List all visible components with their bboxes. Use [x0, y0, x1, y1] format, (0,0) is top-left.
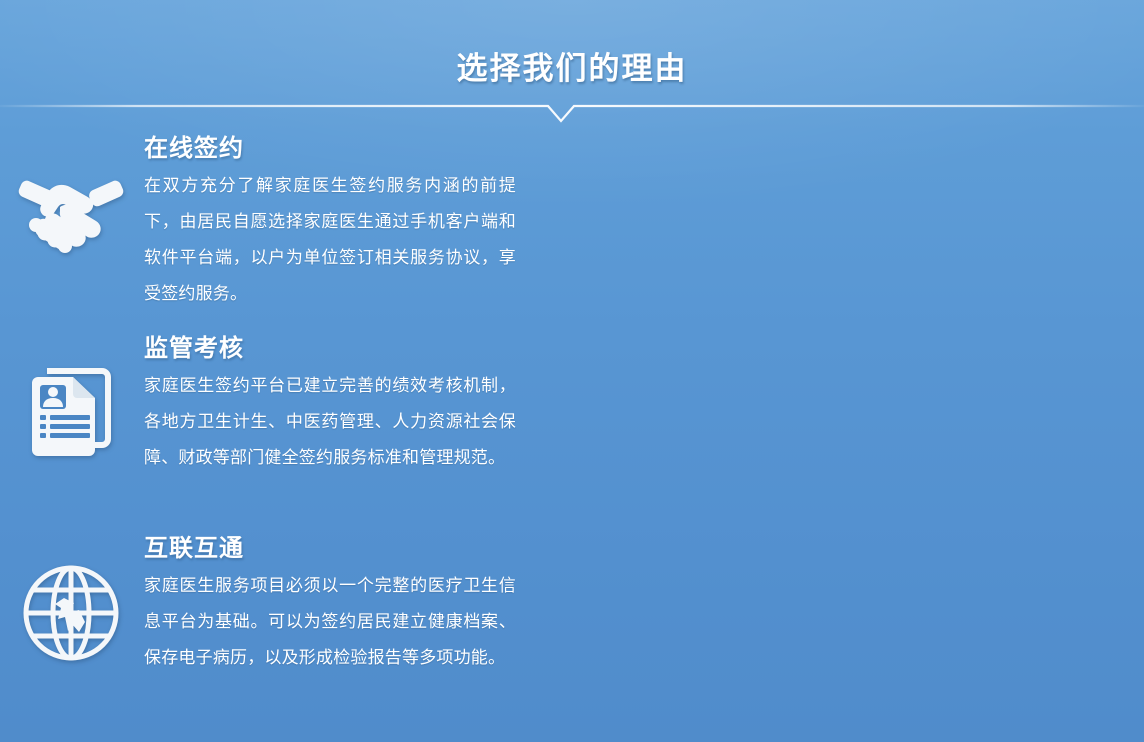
feature-item: 在线签约 在双方充分了解家庭医生签约服务内涵的前提下，由居民自愿选择家庭医生通过… — [0, 128, 572, 328]
section-header: 选择我们的理由 — [0, 0, 1144, 110]
feature-item: 监管考核 家庭医生签约平台已建立完善的绩效考核机制，各地方卫生计生、中医药管理、… — [0, 328, 572, 528]
chevron-down-notch-icon — [0, 99, 1144, 125]
feature-item: 快速落地 家庭医生签约平台由一支专业的开发团队根据国家政策定制开发，软件平台及手… — [572, 328, 1144, 528]
feature-body: 在线签约 在双方充分了解家庭医生签约服务内涵的前提下，由居民自愿选择家庭医生通过… — [130, 128, 516, 312]
page-title: 选择我们的理由 — [457, 49, 688, 89]
feature-grid: 在线签约 在双方充分了解家庭医生签约服务内涵的前提下，由居民自愿选择家庭医生通过… — [0, 128, 1144, 728]
feature-body: 监管考核 家庭医生签约平台已建立完善的绩效考核机制，各地方卫生计生、中医药管理、… — [130, 328, 516, 476]
feature-title: 互联互通 — [144, 532, 516, 566]
feature-text: 家庭医生服务项目必须以一个完整的医疗卫生信息平台为基础。可以为签约居民建立健康档… — [144, 568, 516, 676]
feature-item: 三师联动 “医院三级联动，双向转诊功能”是家庭医生签约平台的又一大特色，家庭医生… — [572, 128, 1144, 328]
feature-text: 在双方充分了解家庭医生签约服务内涵的前提下，由居民自愿选择家庭医生通过手机客户端… — [144, 168, 516, 312]
feature-text: 家庭医生签约平台已建立完善的绩效考核机制，各地方卫生计生、中医药管理、人力资源社… — [144, 368, 516, 476]
handshake-icon — [12, 154, 130, 272]
feature-body: 互联互通 家庭医生服务项目必须以一个完整的医疗卫生信息平台为基础。可以为签约居民… — [130, 528, 516, 676]
feature-item: 互联互通 家庭医生服务项目必须以一个完整的医疗卫生信息平台为基础。可以为签约居民… — [0, 528, 572, 728]
feature-item: 健康扶贫 将扶贫工作作为当前重要的民生任务，准确把握医改和精准扶贫的结合点。贫困… — [572, 528, 1144, 728]
header-divider — [0, 99, 1144, 125]
feature-title: 在线签约 — [144, 132, 516, 166]
globe-icon — [12, 554, 130, 672]
feature-title: 监管考核 — [144, 332, 516, 366]
documents-icon — [12, 354, 130, 472]
reasons-section: 选择我们的理由 — [0, 0, 1144, 742]
